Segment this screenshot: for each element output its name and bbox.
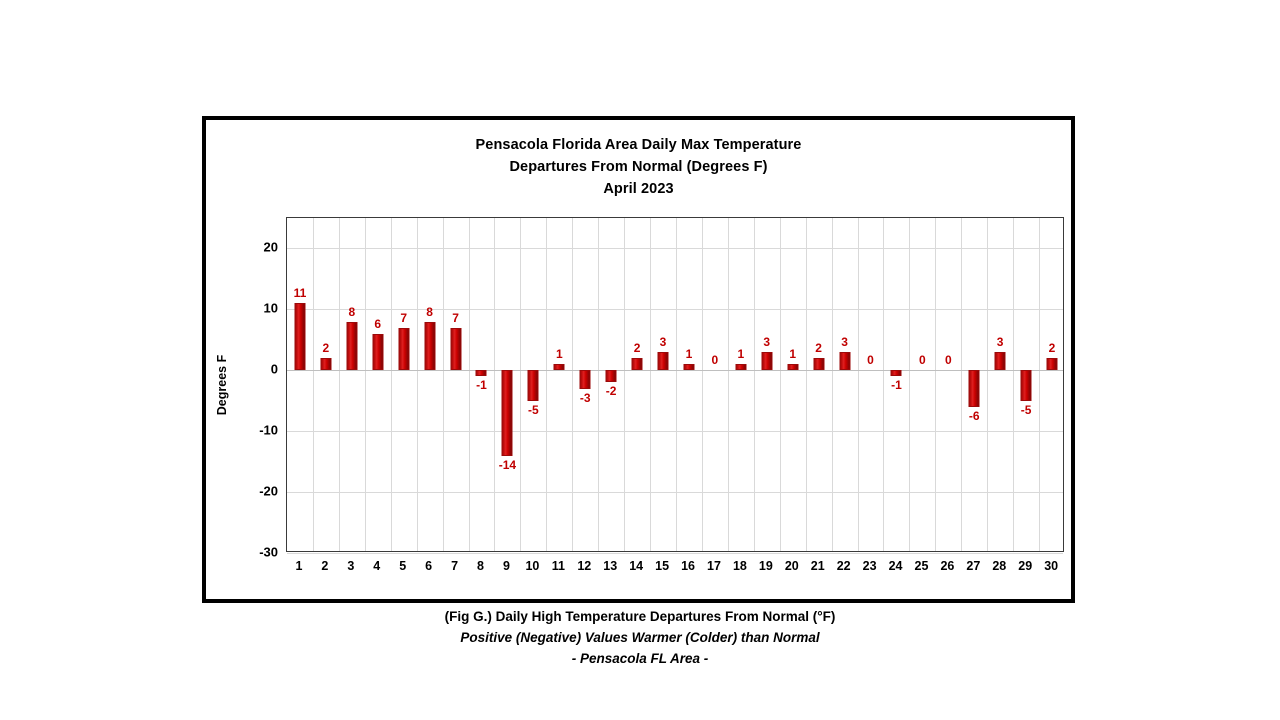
bar[interactable] bbox=[969, 370, 980, 407]
caption-line-2: Positive (Negative) Values Warmer (Colde… bbox=[0, 627, 1280, 648]
bar-value-label: 2 bbox=[323, 341, 330, 355]
bar[interactable] bbox=[683, 364, 694, 370]
bar-slot: 3 bbox=[650, 218, 676, 551]
bar-slot: 3 bbox=[754, 218, 780, 551]
bar-value-label: 2 bbox=[815, 341, 822, 355]
bar-slot: 1 bbox=[546, 218, 572, 551]
bar-value-label: 0 bbox=[867, 353, 874, 367]
y-axis-tick-label: 0 bbox=[216, 362, 286, 377]
chart-title: Pensacola Florida Area Daily Max Tempera… bbox=[206, 134, 1071, 200]
x-axis-tick-label: 1 bbox=[286, 554, 312, 578]
bar-slot: 0 bbox=[858, 218, 884, 551]
x-axis-tick-label: 15 bbox=[649, 554, 675, 578]
caption-line-1: (Fig G.) Daily High Temperature Departur… bbox=[0, 606, 1280, 627]
bar-slot: 3 bbox=[832, 218, 858, 551]
bar-value-label: -2 bbox=[606, 384, 617, 398]
x-axis-tick-label: 29 bbox=[1012, 554, 1038, 578]
bar-value-label: 3 bbox=[841, 335, 848, 349]
bar-value-label: -5 bbox=[1021, 403, 1032, 417]
x-axis-tick-label: 16 bbox=[675, 554, 701, 578]
bar-slot: -5 bbox=[1013, 218, 1039, 551]
x-axis-tick-label: 14 bbox=[623, 554, 649, 578]
x-axis-tick-label: 6 bbox=[416, 554, 442, 578]
y-axis-tick-label: 10 bbox=[216, 301, 286, 316]
bar-slot: 1 bbox=[780, 218, 806, 551]
bar-slot: 0 bbox=[935, 218, 961, 551]
x-axis-tick-label: 19 bbox=[753, 554, 779, 578]
bar-slot: 6 bbox=[365, 218, 391, 551]
bar[interactable] bbox=[995, 352, 1006, 370]
bar-slot: 1 bbox=[728, 218, 754, 551]
bar-slot: 2 bbox=[624, 218, 650, 551]
bar-slot: 8 bbox=[339, 218, 365, 551]
bar-value-label: 3 bbox=[660, 335, 667, 349]
chart-frame: Pensacola Florida Area Daily Max Tempera… bbox=[202, 116, 1075, 603]
y-axis-tick-label: 20 bbox=[216, 240, 286, 255]
bar[interactable] bbox=[891, 370, 902, 376]
bar-slot: -3 bbox=[572, 218, 598, 551]
x-axis-tick-label: 2 bbox=[312, 554, 338, 578]
bar[interactable] bbox=[450, 328, 461, 371]
bar[interactable] bbox=[1047, 358, 1058, 370]
bar-value-label: -14 bbox=[499, 458, 516, 472]
x-axis-tick-label: 18 bbox=[727, 554, 753, 578]
bar-value-label: 1 bbox=[556, 347, 563, 361]
y-axis-tick-label: -20 bbox=[216, 484, 286, 499]
bar[interactable] bbox=[398, 328, 409, 371]
x-axis-tick-label: 28 bbox=[986, 554, 1012, 578]
x-axis-tick-label: 8 bbox=[468, 554, 494, 578]
bar-value-label: 7 bbox=[400, 311, 407, 325]
x-axis-tick-label: 10 bbox=[519, 554, 545, 578]
plot-area: 11286787-1-14-51-3-22310131230-100-63-52 bbox=[286, 217, 1064, 552]
x-axis-tick-label: 25 bbox=[909, 554, 935, 578]
bar-slot: -5 bbox=[520, 218, 546, 551]
bar-value-label: -1 bbox=[476, 378, 487, 392]
x-axis-tick-label: 30 bbox=[1038, 554, 1064, 578]
caption-line-3: - Pensacola FL Area - bbox=[0, 648, 1280, 669]
bar[interactable] bbox=[502, 370, 513, 455]
bar-value-label: 8 bbox=[348, 305, 355, 319]
bar-value-label: 7 bbox=[452, 311, 459, 325]
x-axis-tick-label: 7 bbox=[442, 554, 468, 578]
bar-slot: 11 bbox=[287, 218, 313, 551]
x-axis-tick-label: 13 bbox=[597, 554, 623, 578]
bar-value-label: 6 bbox=[374, 317, 381, 331]
x-axis-tick-label: 23 bbox=[857, 554, 883, 578]
bar-value-label: 3 bbox=[763, 335, 770, 349]
bar[interactable] bbox=[294, 303, 305, 370]
bar-value-label: 11 bbox=[294, 286, 307, 300]
x-axis-tick-label: 9 bbox=[494, 554, 520, 578]
bar-slot: 0 bbox=[909, 218, 935, 551]
bar-slot: -1 bbox=[469, 218, 495, 551]
chart-title-line-1: Pensacola Florida Area Daily Max Tempera… bbox=[206, 134, 1071, 156]
y-axis-tick-label: -10 bbox=[216, 423, 286, 438]
bar-value-label: -1 bbox=[891, 378, 902, 392]
bar[interactable] bbox=[476, 370, 487, 376]
bar-slot: 0 bbox=[702, 218, 728, 551]
bar-slot: 2 bbox=[806, 218, 832, 551]
x-axis-tick-label: 17 bbox=[701, 554, 727, 578]
bar[interactable] bbox=[787, 364, 798, 370]
x-axis-tick-label: 24 bbox=[883, 554, 909, 578]
x-axis-tick-label: 4 bbox=[364, 554, 390, 578]
bar-value-label: 0 bbox=[945, 353, 952, 367]
bar-value-label: 1 bbox=[686, 347, 693, 361]
bar-value-label: 2 bbox=[634, 341, 641, 355]
chart-title-line-2: Departures From Normal (Degrees F) bbox=[206, 156, 1071, 178]
x-axis-tick-label: 26 bbox=[934, 554, 960, 578]
bar-value-label: -6 bbox=[969, 409, 980, 423]
bar[interactable] bbox=[813, 358, 824, 370]
bar-value-label: 3 bbox=[997, 335, 1004, 349]
bar[interactable] bbox=[658, 352, 669, 370]
bar-slot: 7 bbox=[443, 218, 469, 551]
x-axis-tick-label: 21 bbox=[805, 554, 831, 578]
bar-value-label: 1 bbox=[737, 347, 744, 361]
y-axis-tick-label: -30 bbox=[216, 545, 286, 560]
bar[interactable] bbox=[761, 352, 772, 370]
bar-value-label: 1 bbox=[789, 347, 796, 361]
bar-slot: 2 bbox=[313, 218, 339, 551]
bar[interactable] bbox=[839, 352, 850, 370]
bar-slot: -1 bbox=[883, 218, 909, 551]
y-axis-ticks: 20100-10-20-30 bbox=[206, 217, 286, 552]
bar[interactable] bbox=[528, 370, 539, 400]
bar[interactable] bbox=[320, 358, 331, 370]
bars-layer: 11286787-1-14-51-3-22310131230-100-63-52 bbox=[287, 218, 1063, 551]
bar[interactable] bbox=[735, 364, 746, 370]
bar-value-label: 8 bbox=[426, 305, 433, 319]
x-axis-tick-label: 11 bbox=[545, 554, 571, 578]
x-axis-tick-label: 20 bbox=[779, 554, 805, 578]
bar-value-label: -5 bbox=[528, 403, 539, 417]
bar-slot: 8 bbox=[417, 218, 443, 551]
x-axis-tick-label: 3 bbox=[338, 554, 364, 578]
x-axis-ticks: 1234567891011121314151617181920212223242… bbox=[286, 554, 1064, 578]
bar-slot: 2 bbox=[1039, 218, 1065, 551]
bar[interactable] bbox=[632, 358, 643, 370]
bar[interactable] bbox=[554, 364, 565, 370]
bar-slot: -2 bbox=[598, 218, 624, 551]
bar-value-label: 0 bbox=[919, 353, 926, 367]
bar[interactable] bbox=[580, 370, 591, 388]
x-axis-tick-label: 5 bbox=[390, 554, 416, 578]
bar-slot: 3 bbox=[987, 218, 1013, 551]
bar-value-label: 0 bbox=[712, 353, 719, 367]
bar-value-label: 2 bbox=[1049, 341, 1056, 355]
bar[interactable] bbox=[606, 370, 617, 382]
figure-caption: (Fig G.) Daily High Temperature Departur… bbox=[0, 606, 1280, 669]
x-axis-tick-label: 12 bbox=[571, 554, 597, 578]
bar[interactable] bbox=[1021, 370, 1032, 400]
chart-title-line-3: April 2023 bbox=[206, 178, 1071, 200]
x-axis-tick-label: 22 bbox=[831, 554, 857, 578]
bar-slot: -14 bbox=[494, 218, 520, 551]
bar-slot: 7 bbox=[391, 218, 417, 551]
bar-slot: -6 bbox=[961, 218, 987, 551]
bar-slot: 1 bbox=[676, 218, 702, 551]
x-axis-tick-label: 27 bbox=[960, 554, 986, 578]
bar-value-label: -3 bbox=[580, 391, 591, 405]
bar[interactable] bbox=[372, 334, 383, 371]
bar[interactable] bbox=[346, 322, 357, 371]
bar[interactable] bbox=[424, 322, 435, 371]
